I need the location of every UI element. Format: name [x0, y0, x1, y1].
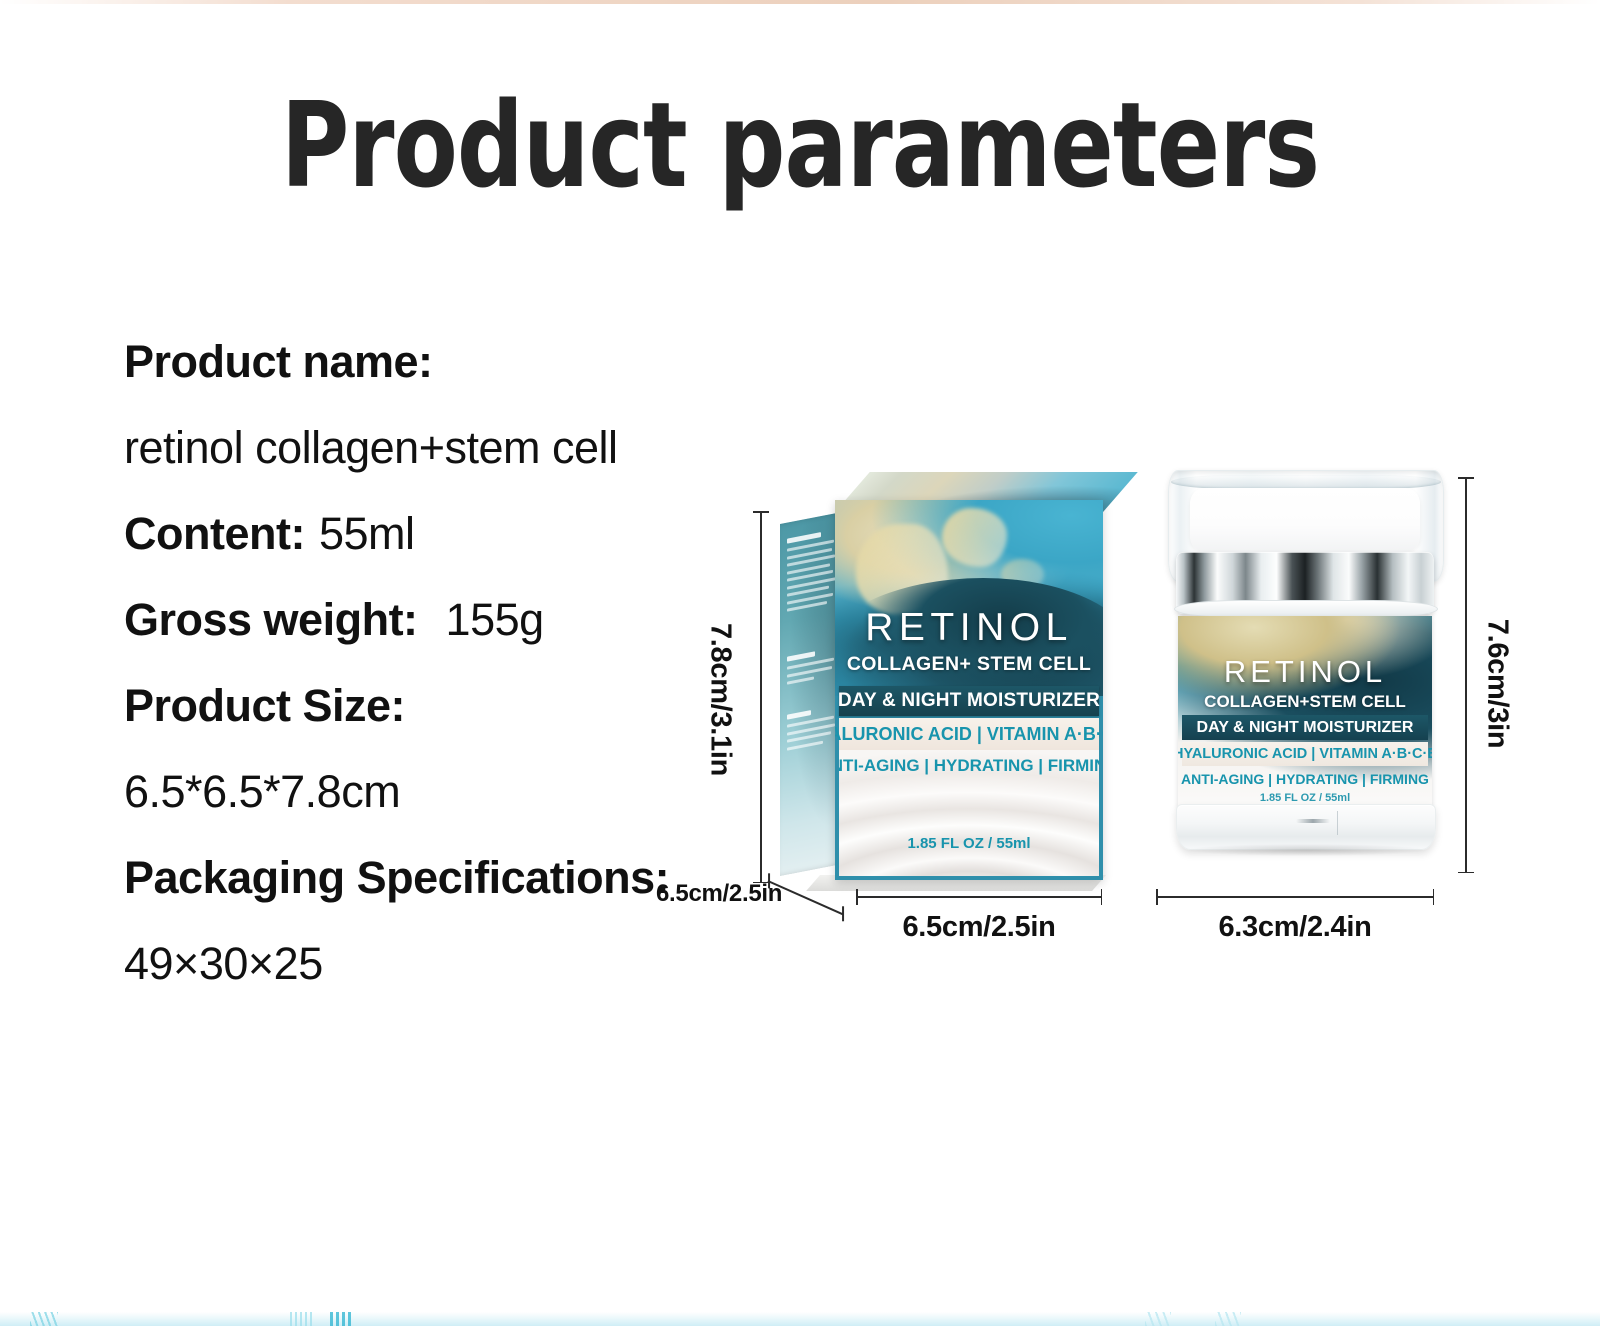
spec-label: Product name: — [124, 336, 433, 387]
spec-row-product-size-value: 6.5*6.5*7.8cm — [124, 766, 400, 818]
bottom-bleed-strip — [0, 1312, 1600, 1326]
product-jar: RETINOL COLLAGEN+STEM CELL DAY & NIGHT M… — [1160, 470, 1450, 870]
spec-row-packaging-value: 49×30×25 — [124, 938, 323, 990]
top-bleed-strip — [0, 0, 1600, 4]
carton-side-panel — [780, 512, 842, 876]
spec-row-content: Content:55ml — [124, 508, 415, 560]
spec-row-product-name-value: retinol collagen+stem cell — [124, 422, 618, 474]
jar-subtitle: COLLAGEN+STEM CELL — [1178, 693, 1432, 710]
side-panel-heading-caution — [787, 710, 811, 720]
carton-benefits-band: ANTI-AGING | HYDRATING | FIRMING — [839, 752, 1099, 780]
page-title: Product parameters — [96, 86, 1504, 204]
carton-moisturizer-text: DAY & NIGHT MOISTURIZER — [838, 690, 1100, 712]
jar-brand-name: RETINOL — [1178, 656, 1432, 687]
jar-benefits-text: ANTI-AGING | HYDRATING | FIRMING — [1181, 771, 1429, 787]
spec-value: 49×30×25 — [124, 938, 323, 989]
carton-width-label: 6.5cm/2.5in — [856, 911, 1102, 944]
carton-subtitle: COLLAGEN+ STEM CELL — [835, 655, 1103, 675]
jar-ingredients-text: HYALURONIC ACID | VITAMIN A·B·C·E — [1178, 746, 1432, 762]
spec-value: 6.5*6.5*7.8cm — [124, 766, 400, 817]
jar-ingredients-band: HYALURONIC ACID | VITAMIN A·B·C·E — [1182, 742, 1428, 766]
spec-row-product-size-label: Product Size: — [124, 680, 405, 732]
jar-width-label: 6.3cm/2.4in — [1156, 911, 1434, 944]
spec-row-product-name-label: Product name: — [124, 336, 433, 388]
spec-value: 155g — [446, 594, 544, 645]
jar-moisturizer-text: DAY & NIGHT MOISTURIZER — [1197, 719, 1414, 737]
carton-ingredients-text: HYALURONIC ACID | VITAMIN A·B·C·E — [835, 724, 1103, 745]
carton-moisturizer-band: DAY & NIGHT MOISTURIZER — [839, 686, 1099, 716]
jar-height-dimension-line — [1465, 477, 1467, 873]
product-parameters-page: Product parameters Product name: retinol… — [0, 0, 1600, 1326]
spec-label: Content: — [124, 508, 305, 559]
spec-label: Product Size: — [124, 680, 405, 731]
carton-volume-text: 1.85 FL OZ / 55ml — [839, 835, 1099, 852]
jar-volume-text: 1.85 FL OZ / 55ml — [1178, 792, 1432, 804]
carton-brand-name: RETINOL — [835, 608, 1103, 647]
carton-benefits-text: ANTI-AGING | HYDRATING | FIRMING — [839, 756, 1099, 776]
carton-ingredients-band: HYALURONIC ACID | VITAMIN A·B·C·E — [839, 718, 1099, 751]
jar-height-label: 7.6cm/3in — [1481, 569, 1514, 799]
carton-front-face: RETINOL COLLAGEN+ STEM CELL DAY & NIGHT … — [835, 500, 1103, 880]
carton-depth-label: 6.5cm/2.5in — [656, 880, 782, 908]
carton-cream-swirl: ANTI-AGING | HYDRATING | FIRMING 1.85 FL… — [839, 750, 1099, 876]
jar-benefits-band: ANTI-AGING | HYDRATING | FIRMING — [1182, 767, 1428, 790]
jar-shadow — [1186, 844, 1426, 856]
carton-height-label: 7.8cm/3.1in — [704, 585, 737, 815]
spec-label: Packaging Specifications: — [124, 852, 669, 903]
jar-white-inner-cap — [1190, 488, 1420, 552]
jar-width-dimension-line — [1156, 896, 1434, 898]
product-carton: RETINOL COLLAGEN+ STEM CELL DAY & NIGHT … — [780, 470, 1100, 880]
jar-label: RETINOL COLLAGEN+STEM CELL DAY & NIGHT M… — [1178, 616, 1432, 808]
carton-height-dimension-line — [760, 511, 762, 883]
carton-width-dimension-line — [856, 896, 1102, 898]
spec-row-gross-weight: Gross weight:155g — [124, 594, 544, 646]
spec-row-packaging-label: Packaging Specifications: — [124, 852, 669, 904]
spec-value: 55ml — [319, 508, 415, 559]
jar-moisturizer-band: DAY & NIGHT MOISTURIZER — [1182, 715, 1428, 740]
spec-value: retinol collagen+stem cell — [124, 422, 618, 473]
product-photo-area: RETINOL COLLAGEN+ STEM CELL DAY & NIGHT … — [640, 455, 1580, 955]
spec-label: Gross weight: — [124, 594, 418, 645]
side-panel-heading-directions — [787, 651, 815, 661]
